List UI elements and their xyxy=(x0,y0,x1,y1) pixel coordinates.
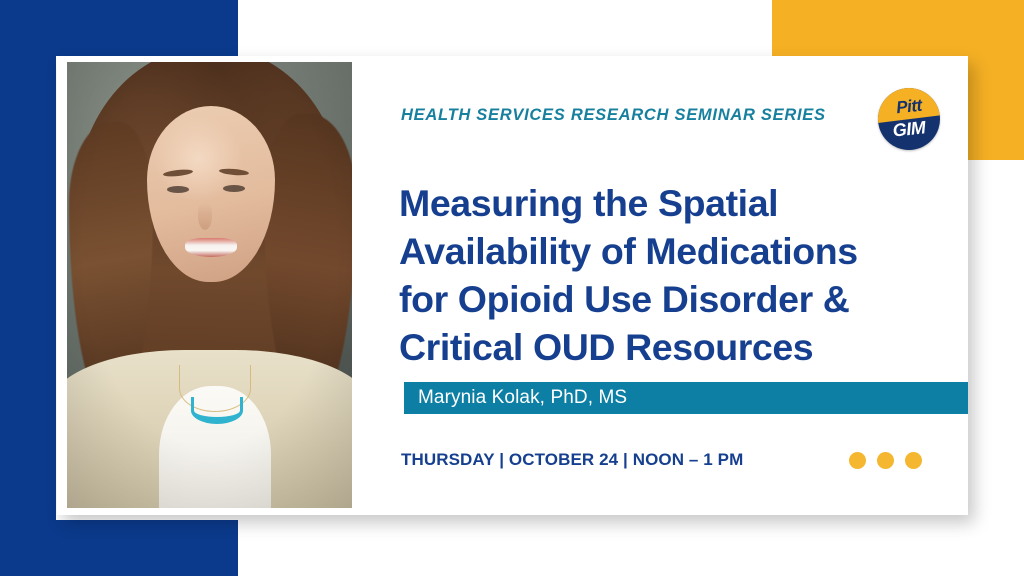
title-line-4: Critical OUD Resources xyxy=(399,323,959,371)
title-line-1: Measuring the Spatial xyxy=(399,179,959,227)
decorative-navy-bar-left xyxy=(0,56,56,520)
speaker-name: Marynia Kolak, PhD, MS xyxy=(418,387,627,409)
decorative-dot-3 xyxy=(905,452,922,469)
decorative-navy-block-bottom-left xyxy=(0,520,238,576)
speaker-name-bar: Marynia Kolak, PhD, MS xyxy=(404,382,968,414)
decorative-dot-2 xyxy=(877,452,894,469)
page-title: Measuring the Spatial Availability of Me… xyxy=(399,179,959,371)
event-datetime: THURSDAY | OCTOBER 24 | NOON – 1 PM xyxy=(401,450,743,470)
decorative-dot-group xyxy=(849,452,922,469)
decorative-dot-1 xyxy=(849,452,866,469)
speaker-headshot-photo xyxy=(67,62,352,508)
decorative-navy-block-top-left xyxy=(0,0,238,56)
title-line-2: Availability of Medications xyxy=(399,227,959,275)
series-eyebrow-label: HEALTH SERVICES RESEARCH SEMINAR SERIES xyxy=(401,106,826,125)
photo-vignette xyxy=(67,62,352,508)
title-line-3: for Opioid Use Disorder & xyxy=(399,275,959,323)
pitt-gim-logo: Pitt GIM xyxy=(878,88,940,150)
seminar-announcement-poster: HEALTH SERVICES RESEARCH SEMINAR SERIES … xyxy=(0,0,1024,576)
